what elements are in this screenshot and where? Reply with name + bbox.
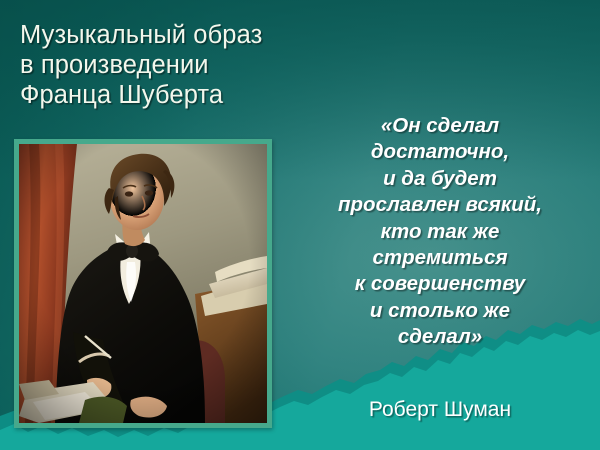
portrait-image-schubert (19, 144, 267, 423)
portrait-frame (14, 139, 272, 428)
presentation-slide: Музыкальный образ в произведении Франца … (0, 0, 600, 450)
quote-text: «Он сделал достаточно, и да будет просла… (288, 113, 592, 351)
quote-attribution: Роберт Шуман (288, 398, 592, 422)
slide-title: Музыкальный образ в произведении Франца … (20, 20, 320, 110)
